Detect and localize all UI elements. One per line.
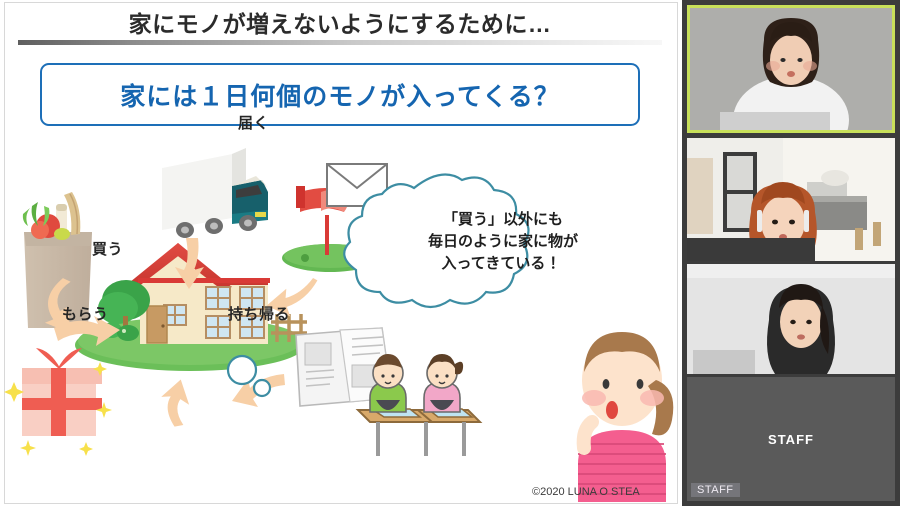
video-tile-4[interactable]: STAFF STAFF [687, 377, 895, 501]
participant-3-video [687, 264, 895, 374]
question-box: 家には１日何個のモノが入ってくる？ [40, 63, 640, 126]
video-tile-3[interactable] [687, 264, 895, 374]
slide-title: 家にモノが増えないようにするために… [20, 6, 660, 38]
participant-1-video [690, 8, 892, 130]
house-door [147, 306, 167, 343]
diagram-label-bring-home: 持ち帰る [228, 303, 290, 324]
diagram-label-buy: 買う [92, 238, 123, 259]
diagram-label-arrive: 届く [238, 112, 269, 133]
thinking-girl-illustration [578, 332, 673, 502]
title-divider [18, 40, 662, 45]
question-box-text: 家には１日何個のモノが入ってくる？ [120, 77, 560, 113]
speech-bubble-line-1: 「買う」以外にも [443, 210, 563, 228]
video-participant-panel: STAFF STAFF [682, 0, 900, 506]
copyright-notice: ©2020 LUNA O STEA [532, 486, 640, 498]
delivery-truck-illustration [162, 148, 268, 238]
shared-slide-region: 家にモノが増えないようにするために… 家には１日何個のモノが入ってくる？ [0, 0, 682, 506]
participant-2-video [687, 138, 895, 261]
participant-name-badge: STAFF [691, 483, 740, 497]
screen: 家にモノが増えないようにするために… 家には１日何個のモノが入ってくる？ [0, 0, 900, 506]
arrow-from-carry [154, 376, 195, 429]
video-tile-2[interactable] [687, 138, 895, 261]
school-kids-illustration [358, 354, 480, 456]
diagram-label-receive: もらう [62, 303, 109, 324]
speech-bubble-line-3: 入ってきている ！ [442, 255, 565, 272]
video-tile-1[interactable] [687, 5, 895, 133]
gift-box-illustration [4, 348, 112, 456]
speech-bubble-line-2: 毎日のように家に物が [428, 232, 579, 250]
